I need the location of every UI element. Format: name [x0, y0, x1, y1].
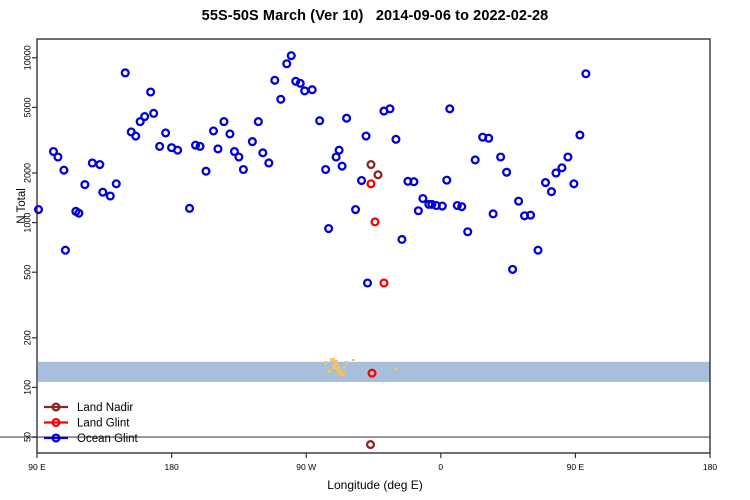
data-point	[571, 180, 578, 187]
data-point	[322, 166, 329, 173]
data-point	[197, 143, 204, 150]
data-point	[132, 133, 139, 140]
plot-canvas: 5010020050010002000500010000 90 E18090 W…	[0, 0, 750, 500]
data-point	[240, 166, 247, 173]
svg-text:10000: 10000	[22, 45, 32, 70]
data-point	[301, 87, 308, 94]
data-point	[215, 146, 222, 153]
data-point	[186, 205, 193, 212]
legend-label: Land Nadir	[77, 402, 133, 414]
data-point	[55, 154, 62, 161]
data-point	[99, 189, 106, 196]
data-point	[62, 247, 69, 254]
data-point	[363, 133, 370, 140]
data-point	[446, 105, 453, 112]
data-point	[509, 266, 516, 273]
data-point	[472, 157, 479, 164]
svg-text:90 E: 90 E	[28, 462, 46, 472]
data-point	[381, 280, 388, 287]
data-point	[203, 168, 210, 175]
data-point	[410, 178, 417, 185]
data-point	[367, 441, 374, 448]
svg-text:5000: 5000	[22, 97, 32, 117]
x-axis-ticks: 90 E18090 W090 E180	[28, 453, 717, 472]
data-point	[503, 169, 510, 176]
svg-text:0: 0	[438, 462, 443, 472]
data-point	[485, 135, 492, 142]
data-point	[542, 179, 549, 186]
data-point	[89, 160, 96, 167]
svg-text:100: 100	[22, 380, 32, 395]
data-point	[553, 170, 560, 177]
data-point	[81, 181, 88, 188]
data-point	[283, 60, 290, 67]
svg-text:200: 200	[22, 330, 32, 345]
data-point	[249, 138, 256, 145]
data-point	[259, 149, 266, 156]
data-point	[497, 154, 504, 161]
data-point	[336, 147, 343, 154]
data-point	[35, 206, 42, 213]
data-point	[393, 136, 400, 143]
data-point	[227, 131, 234, 138]
svg-text:90 W: 90 W	[296, 462, 316, 472]
legend: Land NadirLand GlintOcean Glint	[44, 402, 139, 445]
data-point	[515, 198, 522, 205]
data-point	[527, 212, 534, 219]
svg-text:90 E: 90 E	[567, 462, 585, 472]
data-point	[113, 180, 120, 187]
data-point	[358, 177, 365, 184]
data-point	[439, 203, 446, 210]
data-point	[582, 70, 589, 77]
data-point	[339, 163, 346, 170]
data-point	[156, 143, 163, 150]
data-point	[559, 164, 566, 171]
data-point	[236, 154, 243, 161]
data-point	[265, 160, 272, 167]
data-point	[443, 177, 450, 184]
data-point	[419, 195, 426, 202]
data-point	[96, 161, 103, 168]
data-point	[387, 105, 394, 112]
data-point	[372, 218, 379, 225]
data-point	[565, 154, 572, 161]
plot-frame	[37, 39, 710, 453]
data-point	[277, 96, 284, 103]
data-point	[150, 110, 157, 117]
legend-label: Land Glint	[77, 418, 130, 430]
data-point	[107, 193, 114, 200]
chart-figure: 55S-50S March (Ver 10) 2014-09-06 to 202…	[0, 0, 750, 500]
data-point	[458, 203, 465, 210]
data-point	[210, 128, 217, 135]
data-point	[399, 236, 406, 243]
y-axis-ticks: 5010020050010002000500010000	[22, 45, 37, 442]
data-point	[576, 132, 583, 139]
data-point	[548, 188, 555, 195]
data-point	[255, 118, 262, 125]
data-point	[343, 115, 350, 122]
data-point	[122, 69, 129, 76]
data-point	[368, 180, 375, 187]
svg-text:50: 50	[22, 432, 32, 442]
data-point	[288, 52, 295, 59]
svg-text:180: 180	[165, 462, 179, 472]
data-point	[364, 280, 371, 287]
svg-text:2000: 2000	[22, 163, 32, 183]
data-point	[221, 118, 228, 125]
data-point	[271, 77, 278, 84]
data-point	[490, 210, 497, 217]
legend-label: Ocean Glint	[77, 433, 139, 445]
svg-text:500: 500	[22, 265, 32, 280]
data-point	[375, 171, 382, 178]
data-point	[316, 117, 323, 124]
svg-text:180: 180	[703, 462, 717, 472]
data-point	[325, 225, 332, 232]
data-point	[415, 207, 422, 214]
data-point	[61, 167, 68, 174]
svg-text:1000: 1000	[22, 213, 32, 233]
data-point	[162, 130, 169, 137]
data-point	[352, 206, 359, 213]
data-points	[35, 52, 589, 448]
data-point	[464, 228, 471, 235]
data-point	[535, 247, 542, 254]
data-point	[297, 80, 304, 87]
data-point	[309, 86, 316, 93]
data-point	[368, 161, 375, 168]
data-point	[147, 89, 154, 96]
data-point	[141, 113, 148, 120]
data-point	[174, 147, 181, 154]
